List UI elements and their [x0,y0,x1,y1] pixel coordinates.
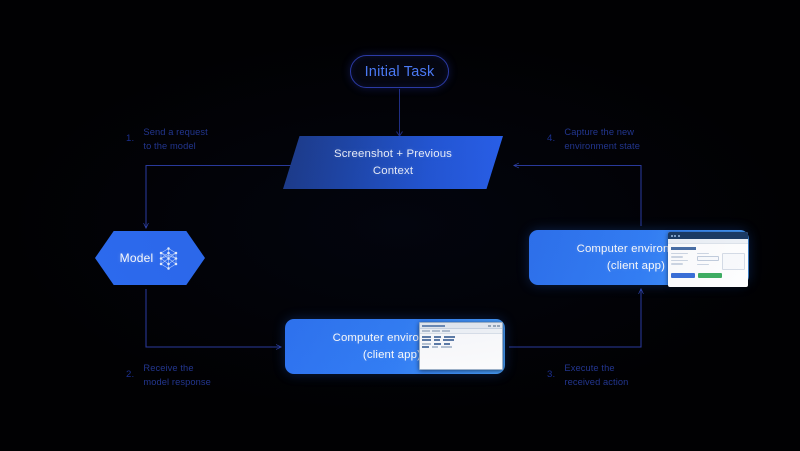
thumbnail-titlebar [668,232,748,239]
step-text: Execute the received action [564,361,628,390]
step-label-1: 1. Send a request to the model [126,125,208,154]
step-label-2: 2. Receive the model response [126,361,211,390]
thumbnail-body [668,244,748,270]
neural-network-icon [157,246,180,271]
step-number: 3. [547,361,555,380]
initial-task-label: Initial Task [365,64,435,80]
diagram-canvas: Initial Task Screenshot + Previous Conte… [0,0,800,451]
step-text: Send a request to the model [143,125,207,154]
thumbnail-button-row [668,273,748,281]
table-app-screenshot-thumbnail [419,322,503,370]
window-controls [488,325,500,327]
titlebar-dots [671,235,680,237]
titlebar-title [422,325,445,327]
form-app-screenshot-thumbnail [668,232,748,287]
connector-environment-to-context [514,166,641,227]
connector-context-to-model [146,166,293,229]
step-number: 2. [126,361,134,380]
model-label: Model [120,251,154,265]
step-text: Capture the new environment state [564,125,640,154]
thumbnail-heading [671,247,696,250]
thumbnail-primary-button [671,273,695,278]
model-node[interactable]: Model [95,231,205,285]
step-label-4: 4. Capture the new environment state [547,125,640,154]
step-number: 4. [547,125,555,144]
step-number: 1. [126,125,134,144]
thumbnail-data-grid [420,334,502,348]
thumbnail-column-left [671,253,694,270]
connector-task-to-context [397,89,403,136]
step-label-3: 3. Execute the received action [547,361,628,390]
connector-model-to-environment [146,289,281,347]
thumbnail-columns [671,253,745,270]
connector-environment-to-environment [509,289,641,347]
screenshot-context-node[interactable]: Screenshot + Previous Context [283,136,503,189]
step-text: Receive the model response [143,361,211,390]
initial-task-node[interactable]: Initial Task [350,55,449,88]
thumbnail-column-mid [697,253,720,270]
screenshot-context-label: Screenshot + Previous Context [334,146,452,178]
thumbnail-column-right [722,253,745,270]
thumbnail-success-button [698,273,722,278]
